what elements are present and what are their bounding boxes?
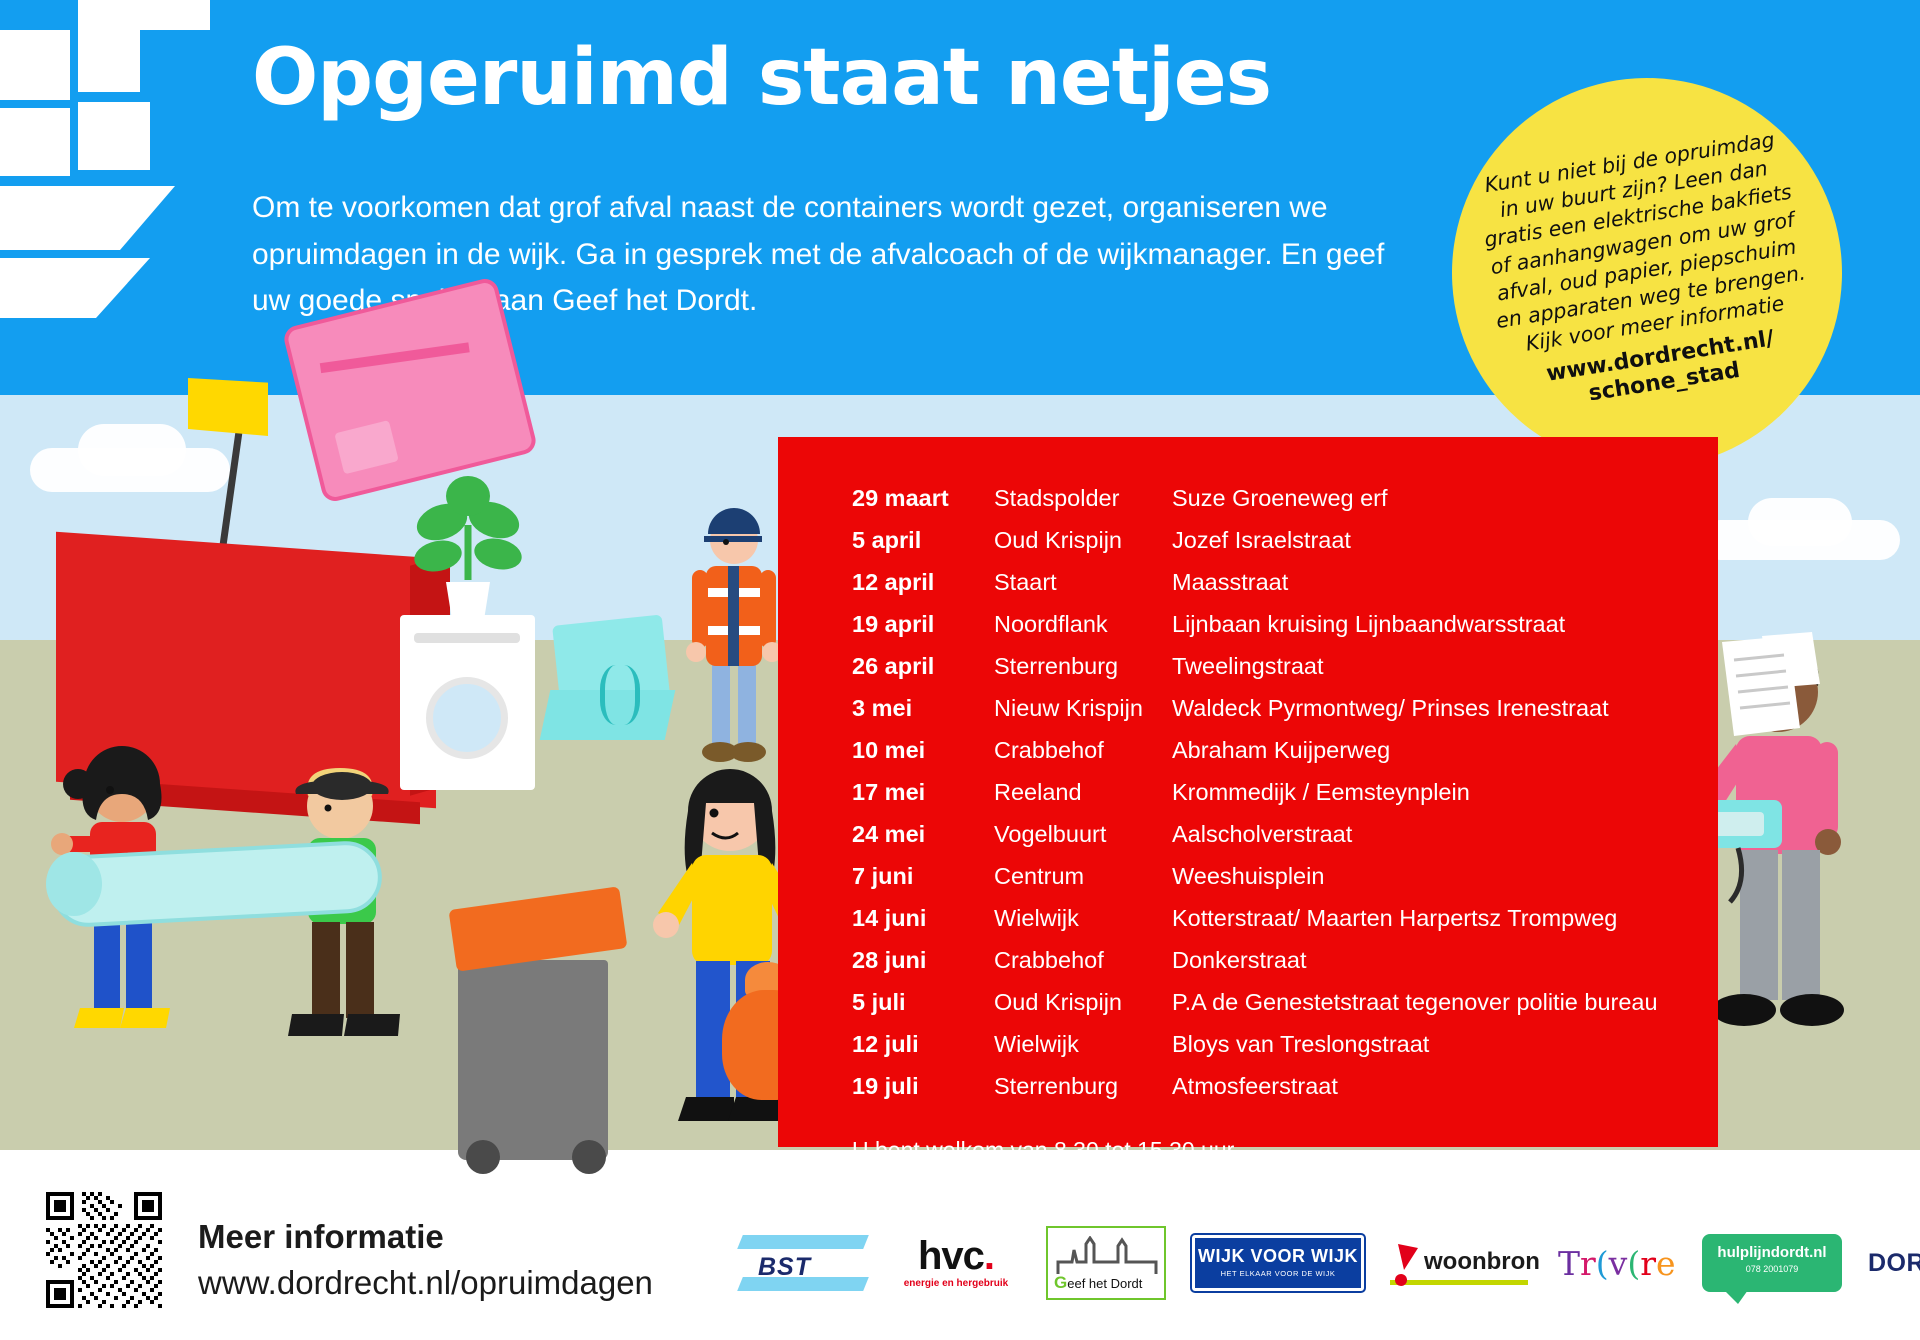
logo-woonbron: woonbron (1390, 1242, 1532, 1285)
logo-wijk-text: WIJK VOOR WIJK (1195, 1246, 1361, 1267)
dordrecht-flag-icon (0, 0, 210, 340)
table-row: 5 april Oud Krispijn Jozef Israelstraat (852, 527, 1658, 569)
logo-wijk-tagline: HET ELKAAR VOOR DE WIJK (1195, 1269, 1361, 1278)
cell-district: Sterrenburg (994, 653, 1172, 695)
cell-street: Waldeck Pyrmontweg/ Prinses Irenestraat (1172, 695, 1658, 737)
schedule-table-body: 29 maart Stadspolder Suze Groeneweg erf … (852, 485, 1658, 1115)
cell-district: Oud Krispijn (994, 989, 1172, 1031)
cloud-shape (78, 424, 186, 476)
cell-date: 26 april (852, 653, 994, 695)
cell-date: 19 juli (852, 1073, 994, 1115)
cell-date: 29 maart (852, 485, 994, 527)
logo-trivire: Tr(v(re (1558, 1244, 1676, 1283)
table-row: 19 april Noordflank Lijnbaan kruising Li… (852, 611, 1658, 653)
wheelie-bin-wheel (466, 1140, 500, 1174)
callout-text-block: Kunt u niet bij de opruimdag in uw buurt… (1464, 124, 1829, 423)
cell-district: Crabbehof (994, 947, 1172, 989)
cell-date: 14 juni (852, 905, 994, 947)
cell-date: 12 juli (852, 1031, 994, 1073)
cell-district: Stadspolder (994, 485, 1172, 527)
dordrecht-skyline-icon (1056, 1236, 1160, 1276)
logo-hvc-tagline: energie en hergebruik (892, 1278, 1020, 1289)
cloud-shape (1748, 498, 1852, 546)
partner-logo-bar: BST hvc. energie en hergebruik Geef het … (740, 1222, 1920, 1304)
mattress-patch (334, 420, 398, 474)
cell-district: Wielwijk (994, 905, 1172, 947)
callout-body: Kunt u niet bij de opruimdag in uw buurt… (1483, 127, 1807, 356)
logo-hulplijn-text: hulplijndordt.nl (1702, 1244, 1842, 1261)
cell-street: P.A de Genestetstraat tegenover politie … (1172, 989, 1658, 1031)
table-row: 12 juli Wielwijk Bloys van Treslongstraa… (852, 1031, 1658, 1073)
cell-district: Oud Krispijn (994, 527, 1172, 569)
cell-district: Vogelbuurt (994, 821, 1172, 863)
footer-info-block: Meer informatie www.dordrecht.nl/opruimd… (198, 1218, 653, 1302)
cell-street: Suze Groeneweg erf (1172, 485, 1658, 527)
cell-street: Bloys van Treslongstraat (1172, 1031, 1658, 1073)
logo-geef-het-dordt: Geef het Dordt (1046, 1226, 1166, 1300)
logo-geef-initial: G (1054, 1273, 1067, 1292)
cell-date: 24 mei (852, 821, 994, 863)
logo-dordrecht: DORDRECHT (1868, 1237, 1920, 1289)
cell-date: 3 mei (852, 695, 994, 737)
more-info-url[interactable]: www.dordrecht.nl/opruimdagen (198, 1264, 653, 1302)
cell-street: Lijnbaan kruising Lijnbaandwarsstraat (1172, 611, 1658, 653)
page-title: Opgeruimd staat netjes (252, 38, 1312, 120)
table-row: 17 mei Reeland Krommedijk / Eemsteynplei… (852, 779, 1658, 821)
cell-street: Krommedijk / Eemsteynplein (1172, 779, 1658, 821)
table-row: 7 juni Centrum Weeshuisplein (852, 863, 1658, 905)
cell-district: Noordflank (994, 611, 1172, 653)
table-row: 10 mei Crabbehof Abraham Kuijperweg (852, 737, 1658, 779)
logo-bst: BST (740, 1231, 866, 1295)
table-row: 12 april Staart Maasstraat (852, 569, 1658, 611)
cell-street: Donkerstraat (1172, 947, 1658, 989)
cell-date: 12 april (852, 569, 994, 611)
logo-hvc: hvc. energie en hergebruik (892, 1237, 1020, 1289)
cell-date: 19 april (852, 611, 994, 653)
cell-street: Atmosfeerstraat (1172, 1073, 1658, 1115)
cell-date: 7 juni (852, 863, 994, 905)
logo-woonbron-text: woonbron (1424, 1248, 1532, 1276)
chair-spring-shape (600, 665, 640, 725)
table-row: 24 mei Vogelbuurt Aalscholverstraat (852, 821, 1658, 863)
wheelie-bin-illustration (458, 960, 608, 1160)
rolled-mattress-end (46, 852, 102, 916)
cell-street: Weeshuisplein (1172, 863, 1658, 905)
logo-dordrecht-text: DORDRECHT (1868, 1249, 1920, 1278)
schedule-opening-hours-note: U bent welkom van 8.30 tot 15.30 uur (852, 1137, 1718, 1164)
logo-wijk-voor-wijk: WIJK VOOR WIJK HET ELKAAR VOOR DE WIJK (1192, 1235, 1364, 1291)
cell-district: Sterrenburg (994, 1073, 1172, 1115)
worker-character-illustration (672, 500, 792, 770)
cell-date: 5 juli (852, 989, 994, 1031)
paper-sheet-illustration (1716, 636, 1806, 746)
cell-date: 5 april (852, 527, 994, 569)
cell-date: 28 juni (852, 947, 994, 989)
logo-hulplijn-phone: 078 2001079 (1702, 1264, 1842, 1274)
table-row: 3 mei Nieuw Krispijn Waldeck Pyrmontweg/… (852, 695, 1658, 737)
cell-district: Nieuw Krispijn (994, 695, 1172, 737)
table-row: 28 juni Crabbehof Donkerstraat (852, 947, 1658, 989)
qr-code-icon[interactable] (46, 1192, 162, 1308)
logo-hvc-dot: . (984, 1234, 994, 1278)
washer-door (426, 677, 508, 759)
table-row: 29 maart Stadspolder Suze Groeneweg erf (852, 485, 1658, 527)
cell-street: Aalscholverstraat (1172, 821, 1658, 863)
cell-date: 17 mei (852, 779, 994, 821)
cell-district: Centrum (994, 863, 1172, 905)
logo-bst-text: BST (758, 1253, 811, 1282)
schedule-table: 29 maart Stadspolder Suze Groeneweg erf … (852, 485, 1658, 1115)
logo-hvc-text: hvc (918, 1234, 984, 1278)
table-row: 26 april Sterrenburg Tweelingstraat (852, 653, 1658, 695)
cell-street: Tweelingstraat (1172, 653, 1658, 695)
logo-hulplijn-dordt: hulplijndordt.nl 078 2001079 (1702, 1234, 1842, 1292)
cell-district: Crabbehof (994, 737, 1172, 779)
cell-street: Abraham Kuijperweg (1172, 737, 1658, 779)
washer-control-panel (414, 633, 520, 643)
potted-plant-illustration (398, 470, 538, 630)
cell-date: 10 mei (852, 737, 994, 779)
cell-district: Wielwijk (994, 1031, 1172, 1073)
cell-street: Kotterstraat/ Maarten Harpertsz Trompweg (1172, 905, 1658, 947)
cell-district: Reeland (994, 779, 1172, 821)
cell-street: Maasstraat (1172, 569, 1658, 611)
mattress-stripe (320, 342, 470, 373)
table-row: 19 juli Sterrenburg Atmosfeerstraat (852, 1073, 1658, 1115)
cell-district: Staart (994, 569, 1172, 611)
yellow-flag-icon (188, 378, 268, 436)
schedule-panel: 29 maart Stadspolder Suze Groeneweg erf … (778, 437, 1718, 1147)
cell-street: Jozef Israelstraat (1172, 527, 1658, 569)
woonbron-mark-icon (1394, 1244, 1420, 1288)
logo-geef-text: eef het Dordt (1067, 1276, 1142, 1291)
wheelie-bin-wheel (572, 1140, 606, 1174)
table-row: 5 juli Oud Krispijn P.A de Genestetstraa… (852, 989, 1658, 1031)
more-info-heading: Meer informatie (198, 1218, 653, 1256)
table-row: 14 juni Wielwijk Kotterstraat/ Maarten H… (852, 905, 1658, 947)
poster-canvas: Opgeruimd staat netjes Om te voorkomen d… (0, 0, 1920, 1340)
